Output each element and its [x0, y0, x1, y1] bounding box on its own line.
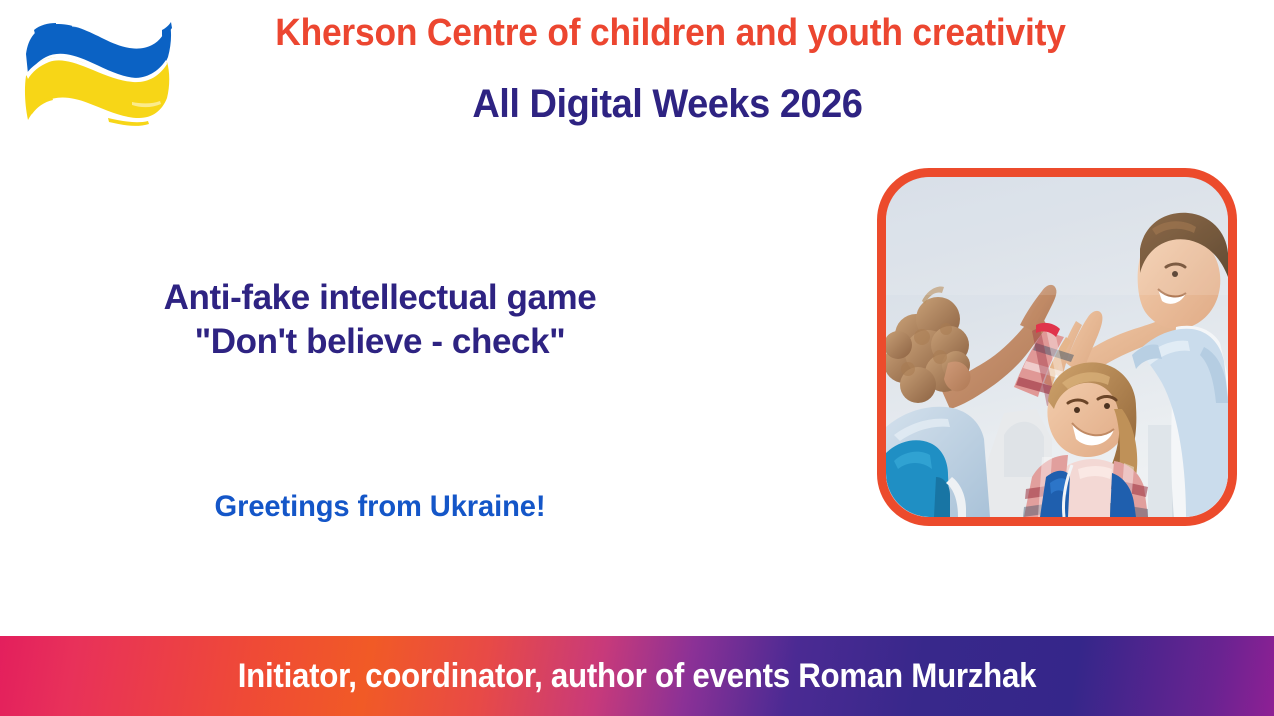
event-title: All Digital Weeks 2026 — [32, 82, 1242, 127]
footer-credit-text: Initiator, coordinator, author of events… — [51, 636, 1223, 716]
footer-banner: Initiator, coordinator, author of events… — [0, 636, 1274, 716]
game-title-line-1: Anti-fake intellectual game — [60, 276, 700, 320]
presentation-slide: Kherson Centre of children and youth cre… — [0, 0, 1274, 716]
organization-title: Kherson Centre of children and youth cre… — [45, 12, 1230, 55]
greeting-text: Greetings from Ukraine! — [70, 490, 691, 524]
game-title-line-2: "Don't believe - check" — [60, 320, 700, 364]
photo-image — [886, 177, 1228, 517]
students-high-five-photo — [877, 168, 1237, 526]
game-title: Anti-fake intellectual game "Don't belie… — [60, 276, 700, 364]
